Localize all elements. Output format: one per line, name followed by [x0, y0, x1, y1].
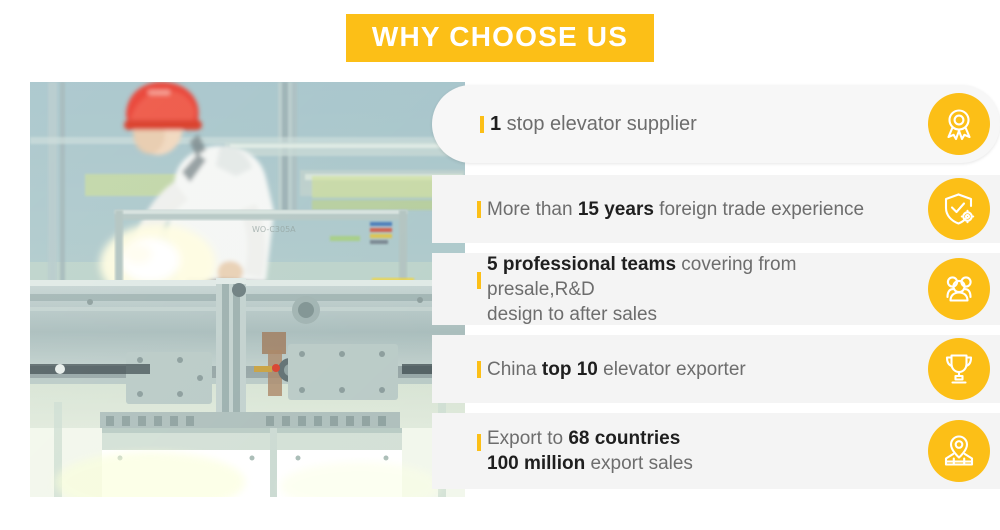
map-pin-icon [928, 420, 990, 482]
accent-bar [477, 272, 481, 289]
feature-text: 1 stop elevator supplier [490, 112, 697, 137]
feature-body: elevator exporter [598, 359, 746, 380]
feature-highlight: top 10 [542, 359, 598, 380]
feature-row[interactable]: 1 stop elevator supplier [432, 85, 1000, 163]
feature-row[interactable]: More than 15 years foreign trade experie… [432, 175, 1000, 243]
page-header: WHY CHOOSE US [0, 0, 1000, 82]
feature-text: Export to 68 countries 100 million expor… [487, 426, 693, 476]
accent-bar [480, 116, 484, 133]
feature-highlight: 15 years [578, 199, 654, 220]
trophy-icon [928, 338, 990, 400]
feature-row[interactable]: Export to 68 countries 100 million expor… [432, 413, 1000, 489]
page-title: WHY CHOOSE US [372, 23, 628, 51]
accent-bar [477, 361, 481, 378]
feature-row[interactable]: China top 10 elevator exporter [432, 335, 1000, 403]
feature-highlight-line2: 100 million [487, 453, 585, 474]
medal-award-icon [928, 93, 990, 155]
feature-body-line2: export sales [585, 453, 693, 474]
feature-text: China top 10 elevator exporter [487, 357, 746, 382]
feature-list: 1 stop elevator supplier More than 15 ye… [432, 85, 1000, 499]
feature-body-pre: More than [487, 199, 578, 220]
accent-bar [477, 434, 481, 451]
feature-body-pre: China [487, 359, 542, 380]
factory-photo: WO-C305A [30, 82, 465, 497]
feature-highlight: 1 [490, 113, 501, 135]
feature-body: foreign trade experience [654, 199, 864, 220]
feature-text: More than 15 years foreign trade experie… [487, 197, 864, 222]
accent-bar [477, 201, 481, 218]
feature-text: 5 professional teams covering from presa… [487, 252, 887, 327]
feature-row[interactable]: 5 professional teams covering from presa… [432, 253, 1000, 325]
feature-body-pre: Export to [487, 428, 568, 449]
factory-photo-illustration: WO-C305A [30, 82, 465, 497]
feature-body: stop elevator supplier [501, 113, 697, 135]
people-group-icon [928, 258, 990, 320]
shield-check-gear-icon [928, 178, 990, 240]
feature-highlight: 68 countries [568, 428, 680, 449]
header-banner: WHY CHOOSE US [346, 14, 654, 62]
feature-highlight: 5 professional teams [487, 254, 676, 275]
feature-body-line2: design to after sales [487, 304, 657, 325]
